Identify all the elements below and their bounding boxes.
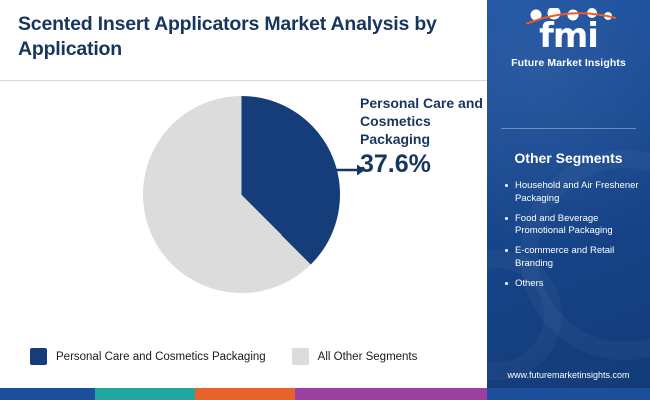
other-segments-list: Household and Air Freshener Packaging Fo…	[503, 180, 643, 298]
infographic-page: Scented Insert Applicators Market Analys…	[0, 0, 650, 400]
pie-chart-slices	[143, 96, 340, 293]
logo-text: fmi	[506, 12, 632, 60]
brand-logo: fmi Future Market Insights	[487, 8, 650, 69]
title-divider	[0, 80, 487, 81]
list-item: Household and Air Freshener Packaging	[503, 180, 643, 206]
stripe-segment	[95, 388, 195, 400]
stripe-segment	[487, 388, 650, 400]
callout-label: Personal Care and Cosmetics Packaging	[360, 94, 484, 149]
list-item: Others	[503, 278, 643, 291]
legend-item: All Other Segments	[292, 348, 418, 365]
legend-swatch-icon	[30, 348, 47, 365]
stripe-segment	[295, 388, 487, 400]
list-item: Food and Beverage Promotional Packaging	[503, 213, 643, 239]
stripe-segment	[0, 388, 95, 400]
list-item: E-commerce and Retail Branding	[503, 245, 643, 271]
legend-swatch-icon	[292, 348, 309, 365]
bottom-color-stripe	[0, 388, 650, 400]
legend-item: Personal Care and Cosmetics Packaging	[30, 348, 266, 365]
brand-sidebar: fmi Future Market Insights Other Segment…	[487, 0, 650, 388]
logo-mark: fmi	[506, 8, 632, 56]
legend-label: Personal Care and Cosmetics Packaging	[56, 351, 266, 363]
stripe-segment	[195, 388, 295, 400]
callout-value: 37.6%	[360, 151, 484, 179]
sidebar-divider	[501, 128, 636, 129]
website-url: www.futuremarketinsights.com	[487, 370, 650, 380]
pie-callout: Personal Care and Cosmetics Packaging 37…	[360, 94, 484, 178]
pie-chart	[143, 96, 340, 293]
page-title: Scented Insert Applicators Market Analys…	[18, 12, 468, 62]
legend-label: All Other Segments	[318, 351, 418, 363]
chart-legend: Personal Care and Cosmetics Packaging Al…	[30, 348, 417, 365]
chart-panel: Scented Insert Applicators Market Analys…	[0, 0, 487, 388]
other-segments-title: Other Segments	[487, 150, 650, 166]
